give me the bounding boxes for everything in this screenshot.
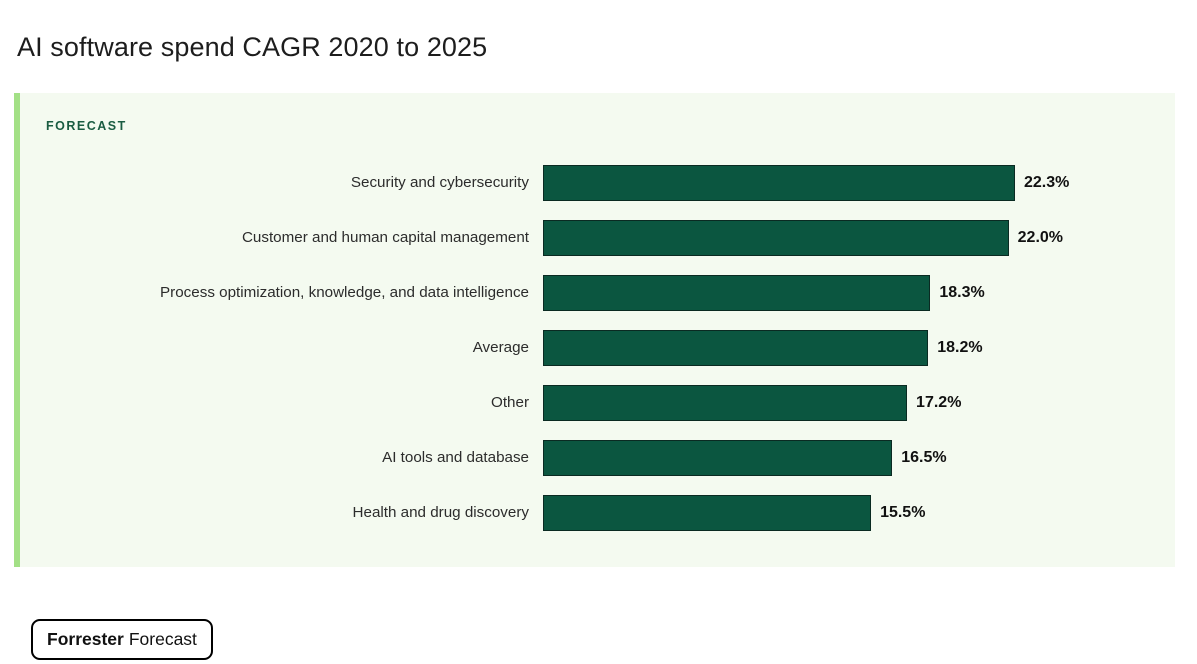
bar-fill xyxy=(543,330,928,366)
source-badge: Forrester Forecast xyxy=(31,619,213,660)
bar-row: Process optimization, knowledge, and dat… xyxy=(14,265,1175,320)
bar-value-label: 15.5% xyxy=(880,504,925,522)
forecast-panel: FORECAST Security and cybersecurity22.3%… xyxy=(14,93,1175,567)
bar-row: Other17.2% xyxy=(14,375,1175,430)
bar-fill xyxy=(543,495,871,531)
bar-category-label: Security and cybersecurity xyxy=(14,174,543,191)
bar-track: 18.3% xyxy=(543,275,1175,311)
source-badge-brand: Forrester xyxy=(47,629,124,650)
bar-track: 17.2% xyxy=(543,385,1175,421)
bar-value-label: 17.2% xyxy=(916,394,961,412)
bar-fill xyxy=(543,275,930,311)
bar-category-label: Other xyxy=(14,394,543,411)
source-badge-word: Forecast xyxy=(129,629,197,650)
bar-row: Security and cybersecurity22.3% xyxy=(14,155,1175,210)
bar-row: AI tools and database16.5% xyxy=(14,430,1175,485)
bar-row: Average18.2% xyxy=(14,320,1175,375)
bar-track: 16.5% xyxy=(543,440,1175,476)
bar-category-label: Customer and human capital management xyxy=(14,229,543,246)
bar-value-label: 18.2% xyxy=(937,339,982,357)
forecast-kicker-label: FORECAST xyxy=(46,119,127,133)
bar-category-label: AI tools and database xyxy=(14,449,543,466)
bar-track: 18.2% xyxy=(543,330,1175,366)
bar-fill xyxy=(543,385,907,421)
page-title: AI software spend CAGR 2020 to 2025 xyxy=(17,32,487,63)
bar-value-label: 18.3% xyxy=(939,284,984,302)
bar-track: 22.0% xyxy=(543,220,1175,256)
bar-row: Customer and human capital management22.… xyxy=(14,210,1175,265)
bar-value-label: 22.3% xyxy=(1024,174,1069,192)
bar-category-label: Health and drug discovery xyxy=(14,504,543,521)
bar-track: 15.5% xyxy=(543,495,1175,531)
bar-fill xyxy=(543,220,1009,256)
bar-fill xyxy=(543,165,1015,201)
bar-value-label: 22.0% xyxy=(1018,229,1063,247)
bar-track: 22.3% xyxy=(543,165,1175,201)
bar-row: Health and drug discovery15.5% xyxy=(14,485,1175,540)
bar-category-label: Average xyxy=(14,339,543,356)
bar-chart-plot-area: Security and cybersecurity22.3%Customer … xyxy=(14,155,1175,540)
bar-category-label: Process optimization, knowledge, and dat… xyxy=(14,284,543,301)
bar-value-label: 16.5% xyxy=(901,449,946,467)
bar-fill xyxy=(543,440,892,476)
